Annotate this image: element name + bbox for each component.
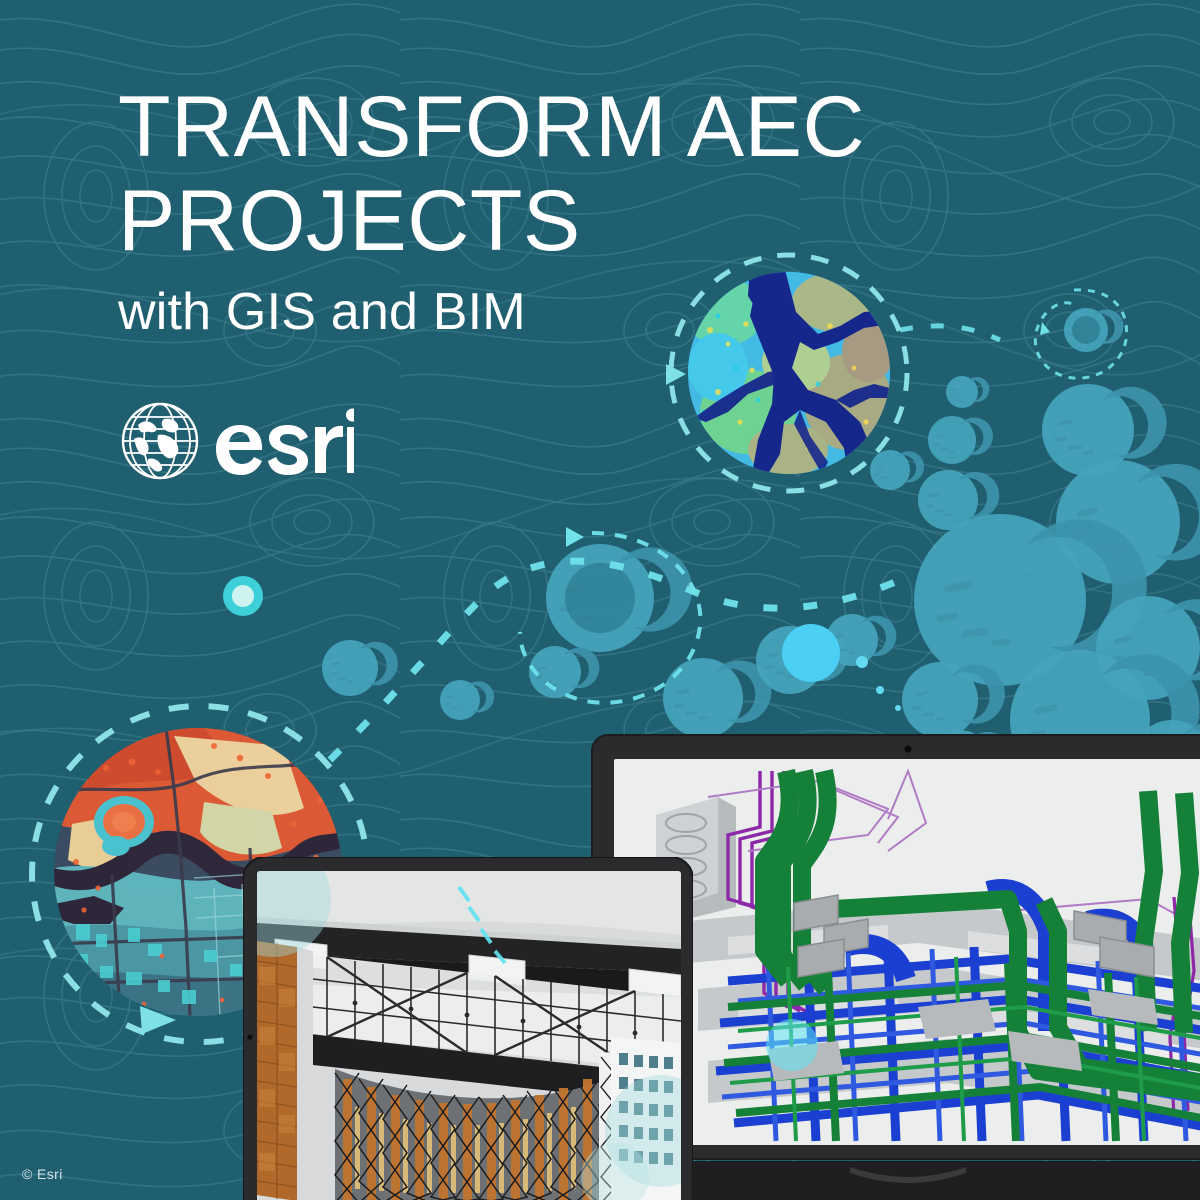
esri-wordmark: R (214, 405, 354, 477)
copyright-notice: © Esri (22, 1166, 63, 1182)
poster-canvas: TRANSFORM AEC PROJECTS with GIS and BIM (0, 0, 1200, 1200)
inset-raster-river-map (688, 272, 890, 474)
esri-globe-icon (120, 401, 200, 481)
tablet-camera-dot (247, 1034, 252, 1039)
esri-logo: R (120, 398, 360, 484)
laptop-camera-dot (904, 745, 911, 752)
tablet-device (243, 857, 693, 1200)
